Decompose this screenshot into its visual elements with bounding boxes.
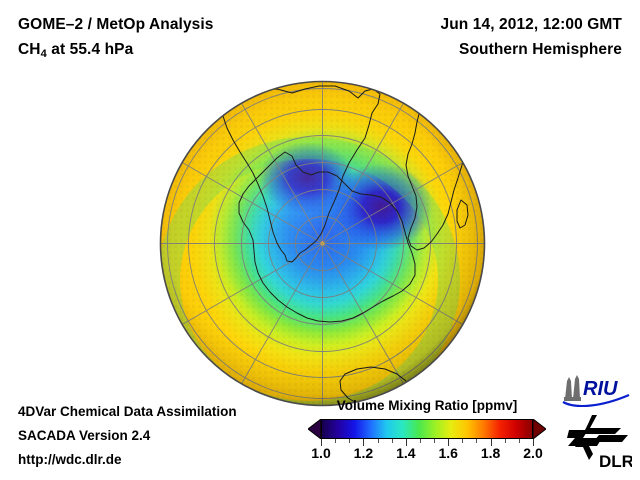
- colorbar-title: Volume Mixing Ratio [ppmv]: [308, 398, 546, 413]
- colorbar-cap-left-icon: [308, 419, 321, 439]
- colorbar-tick-minor: [434, 439, 435, 443]
- colorbar-tick-minor: [378, 439, 379, 443]
- colorbar-tick-minor: [519, 439, 520, 443]
- colorbar-tick-label: 2.0: [523, 445, 542, 461]
- riu-spires-icon: [564, 375, 581, 401]
- colorbar-tick-minor: [462, 439, 463, 443]
- footer-line-version: SACADA Version 2.4: [18, 428, 150, 443]
- colorbar-tick-minor: [392, 439, 393, 443]
- orthographic-globe-map: [159, 80, 486, 407]
- species-prefix: CH: [18, 41, 41, 58]
- riu-wordmark: RIU: [583, 378, 618, 400]
- species-suffix: at 55.4 hPa: [47, 41, 134, 58]
- dlr-logo: DLR: [566, 414, 632, 472]
- riu-logo: RIU: [561, 373, 631, 407]
- colorbar-row: [308, 419, 546, 439]
- instrument-title: GOME–2 / MetOp Analysis: [18, 16, 214, 34]
- species-subscript: 4: [41, 48, 47, 60]
- colorbar-cap-right-icon: [533, 419, 546, 439]
- colorbar-tick-minor: [476, 439, 477, 443]
- region-label: Southern Hemisphere: [459, 41, 622, 59]
- colorbar-tick-label: 1.8: [481, 445, 500, 461]
- colorbar-tick-minor: [420, 439, 421, 443]
- footer-line-method: 4DVar Chemical Data Assimilation: [18, 404, 237, 419]
- datetime-label: Jun 14, 2012, 12:00 GMT: [441, 16, 623, 34]
- dlr-wordmark: DLR: [599, 452, 632, 471]
- footer-line-url: http://wdc.dlr.de: [18, 452, 122, 467]
- colorbar-tick-label: 1.0: [311, 445, 330, 461]
- colorbar-tick-minor: [349, 439, 350, 443]
- colorbar-tick-minor: [505, 439, 506, 443]
- colorbar-tick-minor: [335, 439, 336, 443]
- figure-canvas: GOME–2 / MetOp Analysis CH4 at 55.4 hPa …: [0, 0, 640, 480]
- species-title: CH4 at 55.4 hPa: [18, 41, 133, 59]
- colorbar-tick-label: 1.4: [396, 445, 415, 461]
- colorbar: Volume Mixing Ratio [ppmv] 1.01.21.41.61…: [308, 398, 546, 472]
- colorbar-gradient: [321, 419, 533, 439]
- colorbar-tick-label: 1.6: [438, 445, 457, 461]
- colorbar-tick-label: 1.2: [354, 445, 373, 461]
- south-pole-marker: [320, 241, 324, 245]
- colorbar-tick-labels: 1.01.21.41.61.82.0: [321, 445, 533, 467]
